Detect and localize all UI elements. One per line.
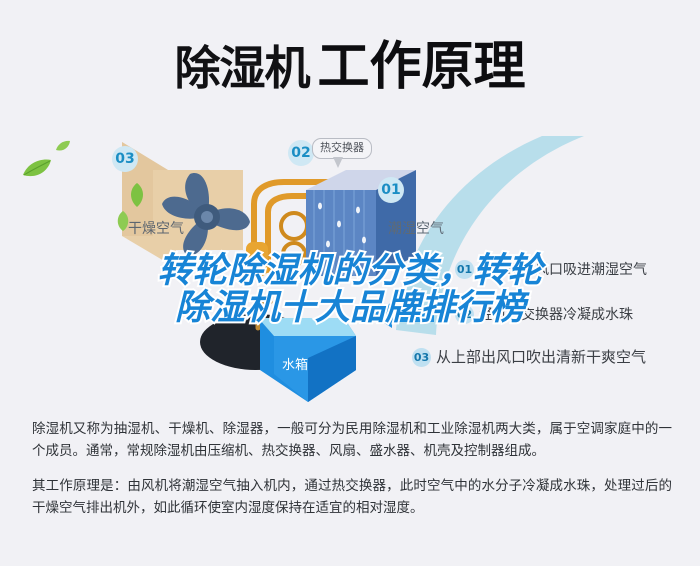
- leaf-icon: [128, 182, 146, 208]
- water-tank-label: 水箱: [282, 354, 308, 373]
- infographic-page: 除湿机工作原理: [0, 0, 700, 566]
- step-caption-03: 03从上部出风口吹出清新干爽空气: [412, 346, 646, 367]
- step-caption-text-01: 从下部进风口吸进潮湿空气: [479, 261, 647, 277]
- dry-air-label: 干燥空气: [128, 218, 184, 238]
- intake-arrow-icon: [372, 302, 434, 328]
- step-caption-01: 01从下部进风口吸进潮湿空气: [455, 259, 647, 279]
- step-caption-text-02: 经过热交换器冷凝成水珠: [479, 306, 633, 322]
- leaf-icon: [55, 140, 71, 153]
- step-caption-badge-02: 02: [455, 305, 474, 324]
- water-tank-icon: [196, 298, 364, 408]
- heat-exchanger-callout: 热交换器: [312, 138, 372, 159]
- step-caption-badge-03: 03: [412, 348, 431, 367]
- article-paragraph-2: 其工作原理是：由风机将潮湿空气抽入机内，通过热交换器，此时空气中的水分子冷凝成水…: [32, 475, 672, 519]
- page-title: 除湿机工作原理: [0, 24, 700, 99]
- article-body: 除湿机又称为抽湿机、干燥机、除湿器，一般可分为民用除湿机和工业除湿机两大类，属于…: [32, 418, 672, 519]
- page-title-secondary: 工作原理: [317, 38, 525, 96]
- leaf-icon: [22, 158, 52, 180]
- humid-air-label: 潮湿空气: [388, 218, 444, 238]
- dehumidifier-diagram: 03 02 01 热交换器 干燥空气 潮湿空气 水箱 01从下部进风口吸进潮湿空…: [0, 122, 700, 402]
- callout-tail-icon: [333, 157, 343, 168]
- step-caption-badge-01: 01: [455, 260, 474, 279]
- page-title-primary: 除湿机: [174, 42, 309, 94]
- heat-exchanger-icon: [298, 144, 420, 284]
- step-caption-text-03: 从上部出风口吹出清新干爽空气: [436, 349, 646, 366]
- step-caption-02: 02经过热交换器冷凝成水珠: [455, 304, 633, 324]
- diagram-badge-02: 02: [288, 140, 314, 166]
- article-paragraph-1: 除湿机又称为抽湿机、干燥机、除湿器，一般可分为民用除湿机和工业除湿机两大类，属于…: [32, 418, 672, 462]
- diagram-badge-01: 01: [378, 177, 404, 203]
- diagram-badge-03: 03: [112, 146, 138, 172]
